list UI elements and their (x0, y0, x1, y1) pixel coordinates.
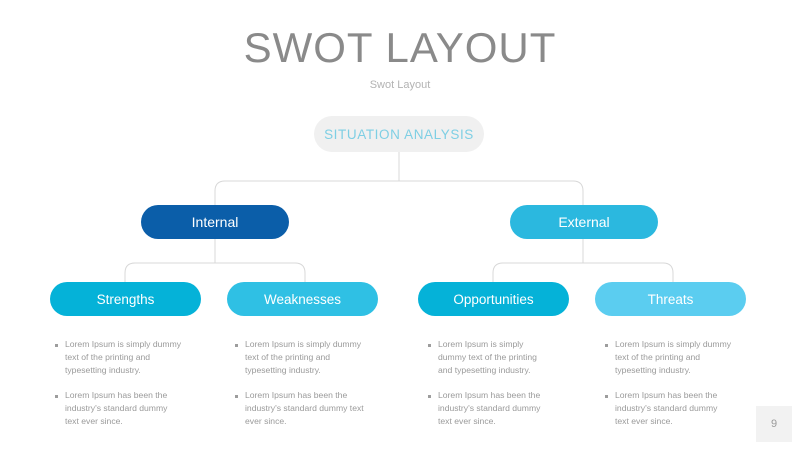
bullet-column-threats: Lorem Ipsum is simply dummy text of the … (605, 338, 755, 440)
page-number: 9 (756, 406, 792, 442)
node-opportunities-label: Opportunities (453, 292, 533, 307)
list-item: Lorem Ipsum is simply dummy text of the … (428, 338, 578, 377)
node-weaknesses-label: Weaknesses (264, 292, 341, 307)
bullet-marker-icon (235, 389, 245, 404)
bullet-text: Lorem Ipsum has been the industry's stan… (65, 389, 183, 428)
node-weaknesses[interactable]: Weaknesses (227, 282, 378, 316)
bullet-marker-icon (235, 338, 245, 353)
list-item: Lorem Ipsum has been the industry's stan… (605, 389, 755, 428)
list-item: Lorem Ipsum is simply dummy text of the … (235, 338, 385, 377)
node-opportunities[interactable]: Opportunities (418, 282, 569, 316)
page-subtitle: Swot Layout (0, 78, 800, 92)
node-situation-analysis[interactable]: SITUATION ANALYSIS (314, 116, 484, 152)
list-item: Lorem Ipsum has been the industry's stan… (428, 389, 578, 428)
list-item: Lorem Ipsum has been the industry's stan… (235, 389, 385, 428)
bullet-marker-icon (428, 389, 438, 404)
bullet-text: Lorem Ipsum is simply dummy text of the … (615, 338, 733, 377)
bullet-marker-icon (55, 389, 65, 404)
node-internal[interactable]: Internal (141, 205, 289, 239)
node-external[interactable]: External (510, 205, 658, 239)
slide-canvas: SWOT LAYOUT Swot Layout SITUATION ANALYS… (0, 0, 800, 450)
bullet-marker-icon (55, 338, 65, 353)
bullet-text: Lorem Ipsum has been the industry's stan… (438, 389, 542, 428)
page-number-label: 9 (771, 418, 777, 430)
node-external-label: External (558, 214, 609, 230)
list-item: Lorem Ipsum has been the industry's stan… (55, 389, 205, 428)
bullet-marker-icon (605, 338, 615, 353)
page-title: SWOT LAYOUT (0, 24, 800, 72)
node-strengths[interactable]: Strengths (50, 282, 201, 316)
list-item: Lorem Ipsum is simply dummy text of the … (55, 338, 205, 377)
bullet-marker-icon (428, 338, 438, 353)
bullet-text: Lorem Ipsum is simply dummy text of the … (65, 338, 183, 377)
bullet-text: Lorem Ipsum has been the industry's stan… (245, 389, 367, 428)
node-situation-analysis-label: SITUATION ANALYSIS (324, 127, 474, 142)
bullet-column-weaknesses: Lorem Ipsum is simply dummy text of the … (235, 338, 385, 440)
bullet-column-opportunities: Lorem Ipsum is simply dummy text of the … (428, 338, 578, 440)
node-internal-label: Internal (192, 214, 239, 230)
bullet-column-strengths: Lorem Ipsum is simply dummy text of the … (55, 338, 205, 440)
node-threats-label: Threats (648, 292, 694, 307)
bullet-text: Lorem Ipsum is simply dummy text of the … (438, 338, 542, 377)
node-threats[interactable]: Threats (595, 282, 746, 316)
bullet-marker-icon (605, 389, 615, 404)
list-item: Lorem Ipsum is simply dummy text of the … (605, 338, 755, 377)
node-strengths-label: Strengths (97, 292, 155, 307)
bullet-text: Lorem Ipsum is simply dummy text of the … (245, 338, 363, 377)
bullet-text: Lorem Ipsum has been the industry's stan… (615, 389, 733, 428)
